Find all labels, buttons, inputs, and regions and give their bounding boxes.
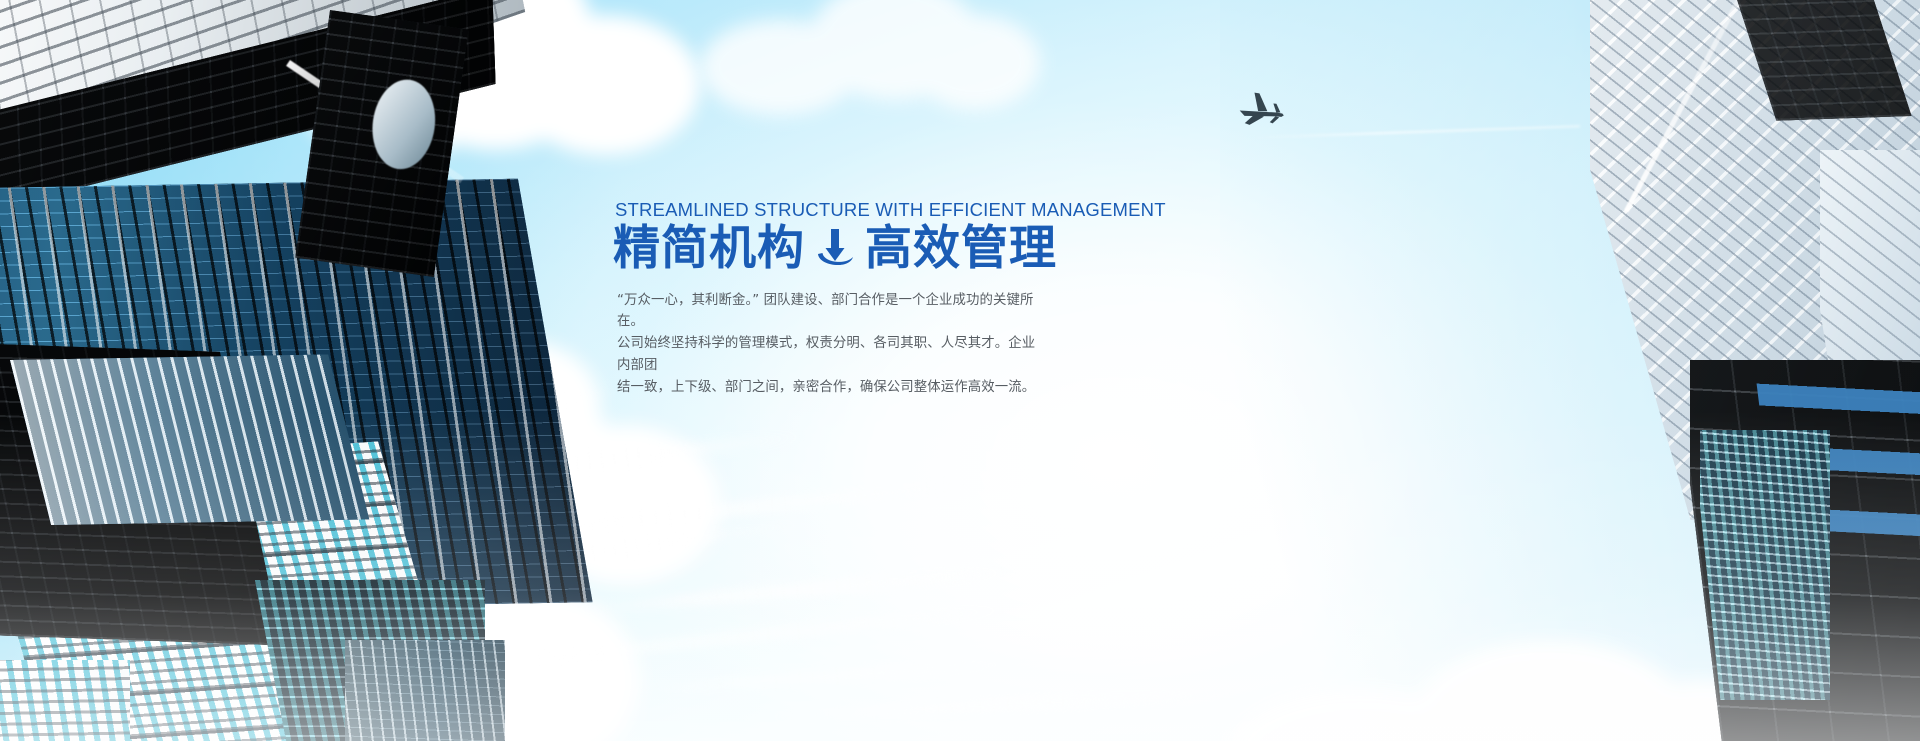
eyebrow-heading: STREAMLINED STRUCTURE WITH EFFICIENT MAN… [615,198,1043,221]
airplane-silhouette [1236,92,1288,132]
banner-body-text: “万众一心，其利断金。” 团队建设、部门合作是一个企业成功的关键所在。 公司始终… [617,290,1041,399]
body-line: 结一致，上下级、部门之间，亲密合作，确保公司整体运作高效一流。 [617,377,1041,399]
banner-copy-block: STREAMLINED STRUCTURE WITH EFFICIENT MAN… [613,198,1043,398]
headline-right-text: 高效管理 [865,223,1057,276]
body-line: “万众一心，其利断金。” 团队建设、部门合作是一个企业成功的关键所在。 [617,290,1041,333]
headline-left-text: 精简机构 [613,223,805,276]
corporate-banner: STREAMLINED STRUCTURE WITH EFFICIENT MAN… [0,0,1920,741]
cumulus-cloud-top-center [700,0,1030,120]
page-title: 精简机构 高效管理 [613,223,1043,276]
downward-arrow-swoosh-mark [815,227,855,271]
bottom-haze [0,411,1920,741]
body-line: 公司始终坚持科学的管理模式，权责分明、各司其职、人尽其才。企业内部团 [617,333,1041,376]
